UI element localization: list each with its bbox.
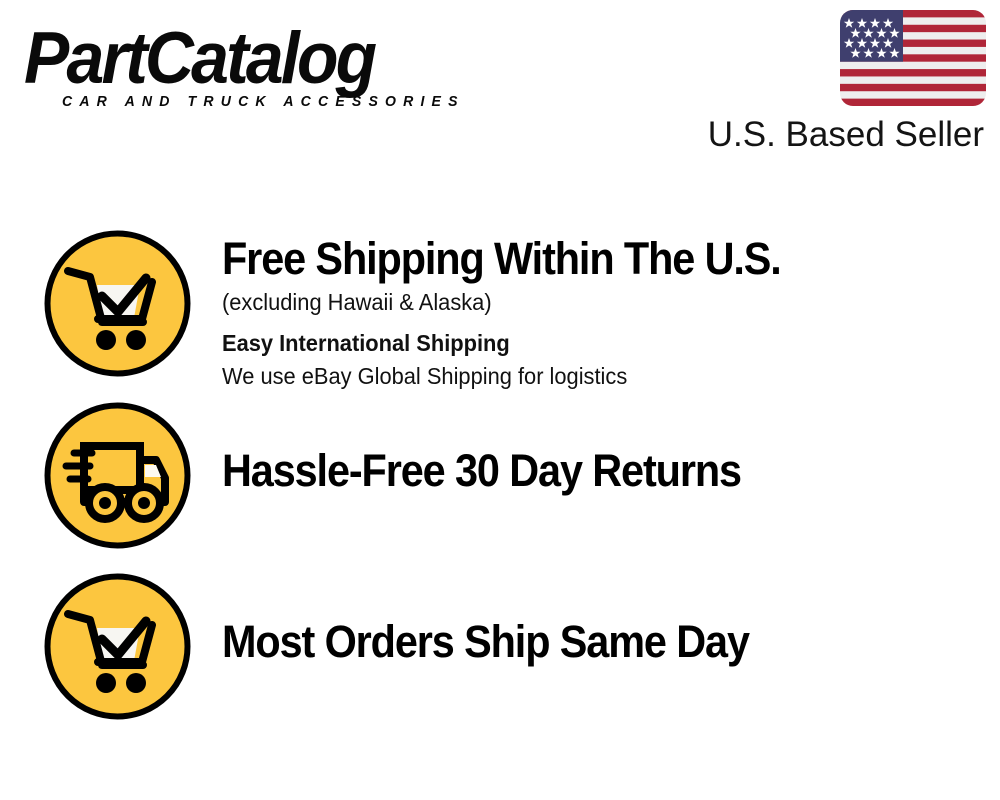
- brand-wordmark: PartCatalog: [24, 22, 461, 96]
- brand-logo[interactable]: PartCatalog CAR AND TRUCK ACCESSORIES: [24, 22, 494, 117]
- us-based-seller-label: U.S. Based Seller: [0, 113, 984, 157]
- feature-row: Free Shipping Within The U.S. (excluding…: [0, 230, 1000, 393]
- delivery-truck-icon: [44, 402, 191, 549]
- feature-title: Most Orders Ship Same Day: [222, 615, 938, 669]
- us-flag-icon: [840, 10, 986, 106]
- feature-text-block: Most Orders Ship Same Day: [191, 573, 1000, 669]
- feature-title: Free Shipping Within The U.S.: [222, 232, 938, 286]
- feature-row: Hassle-Free 30 Day Returns: [0, 402, 1000, 549]
- feature-title: Hassle-Free 30 Day Returns: [222, 444, 938, 498]
- shopping-cart-check-icon: [44, 573, 191, 720]
- feature-text-block: Hassle-Free 30 Day Returns: [191, 402, 1000, 498]
- feature-subtitle: (excluding Hawaii & Alaska): [222, 286, 961, 319]
- feature-subtitle: We use eBay Global Shipping for logistic…: [222, 360, 961, 393]
- shopping-cart-check-icon: [44, 230, 191, 377]
- feature-text-block: Free Shipping Within The U.S. (excluding…: [191, 230, 1000, 393]
- feature-row: Most Orders Ship Same Day: [0, 573, 1000, 720]
- feature-subtitle-bold: Easy International Shipping: [222, 319, 961, 360]
- page-header: PartCatalog CAR AND TRUCK ACCESSORIES: [0, 0, 1000, 175]
- brand-tagline: CAR AND TRUCK ACCESSORIES: [62, 94, 465, 110]
